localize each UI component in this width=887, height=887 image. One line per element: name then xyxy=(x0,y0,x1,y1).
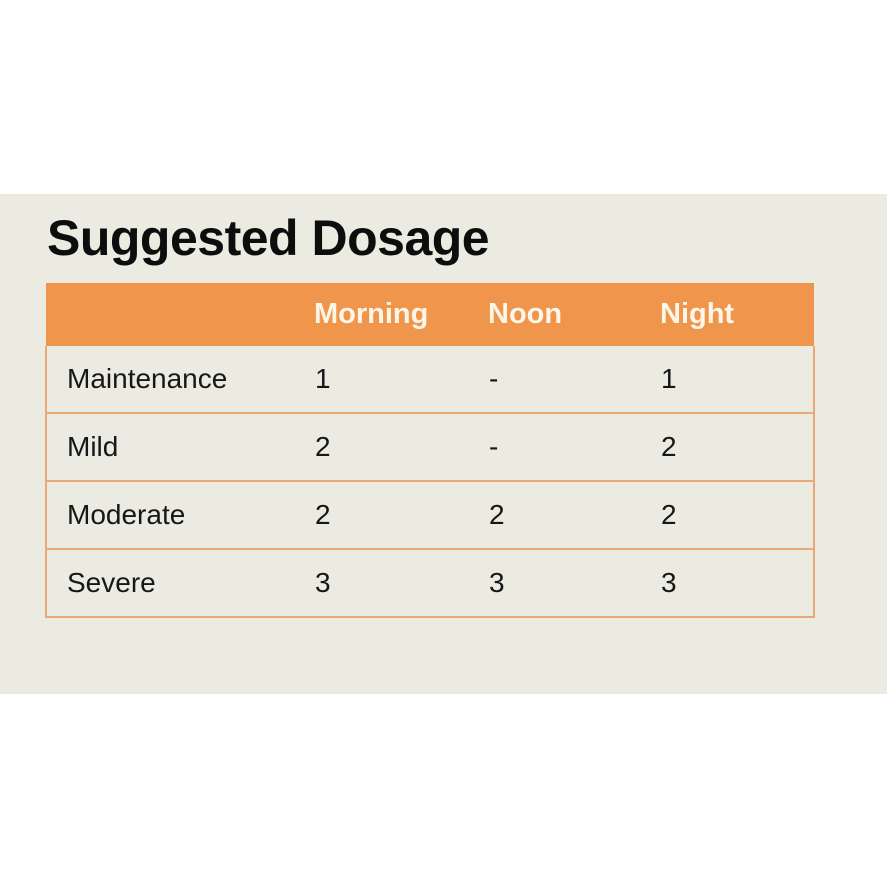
table-row: Moderate 2 2 2 xyxy=(46,481,814,549)
row-label-moderate: Moderate xyxy=(46,481,294,549)
table-row: Severe 3 3 3 xyxy=(46,549,814,617)
cell-mild-night: 2 xyxy=(640,413,814,481)
cell-severe-night: 3 xyxy=(640,549,814,617)
column-header-category xyxy=(46,283,294,346)
page-title: Suggested Dosage xyxy=(47,209,489,267)
cell-mild-morning: 2 xyxy=(294,413,468,481)
column-header-night: Night xyxy=(640,283,814,346)
table-body: Maintenance 1 - 1 Mild 2 - 2 Moderate 2 … xyxy=(46,346,814,617)
cell-maintenance-night: 1 xyxy=(640,346,814,413)
row-label-severe: Severe xyxy=(46,549,294,617)
cell-severe-morning: 3 xyxy=(294,549,468,617)
table-row: Maintenance 1 - 1 xyxy=(46,346,814,413)
cell-maintenance-morning: 1 xyxy=(294,346,468,413)
slide-canvas: Suggested Dosage Morning Noon Night Main… xyxy=(0,0,887,887)
table-header: Morning Noon Night xyxy=(46,283,814,346)
cell-moderate-noon: 2 xyxy=(468,481,640,549)
row-label-mild: Mild xyxy=(46,413,294,481)
table-row: Mild 2 - 2 xyxy=(46,413,814,481)
cell-moderate-morning: 2 xyxy=(294,481,468,549)
column-header-morning: Morning xyxy=(294,283,468,346)
cell-mild-noon: - xyxy=(468,413,640,481)
dosage-table: Morning Noon Night Maintenance 1 - 1 Mil… xyxy=(45,283,815,618)
cell-severe-noon: 3 xyxy=(468,549,640,617)
column-header-noon: Noon xyxy=(468,283,640,346)
cell-maintenance-noon: - xyxy=(468,346,640,413)
table-header-row: Morning Noon Night xyxy=(46,283,814,346)
cell-moderate-night: 2 xyxy=(640,481,814,549)
row-label-maintenance: Maintenance xyxy=(46,346,294,413)
